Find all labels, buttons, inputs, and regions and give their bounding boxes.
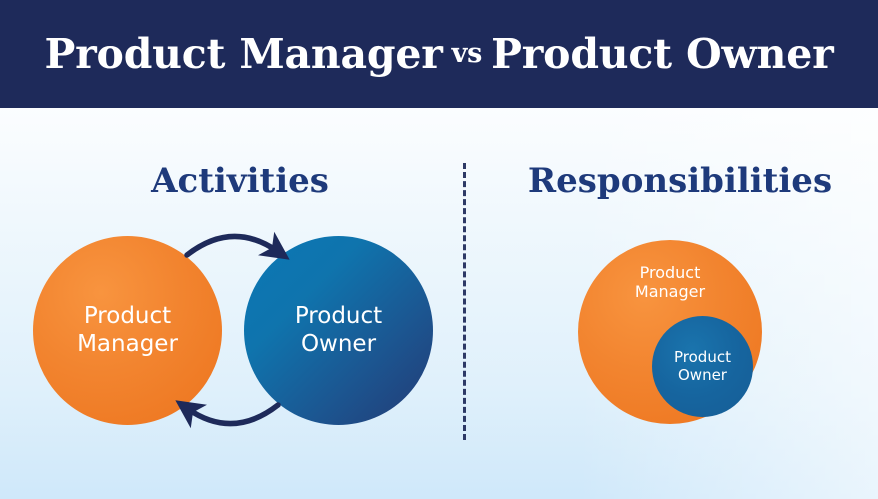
responsibilities-pm-label-line2: Manager [635,282,705,301]
page-title: Product ManagervsProduct Owner [0,0,878,108]
responsibilities-circle-product-owner[interactable]: Product Owner [652,316,753,417]
section-title-activities: Activities [40,161,440,201]
infographic-root: Product ManagervsProduct Owner Activitie… [0,0,878,499]
section-title-responsibilities: Responsibilities [490,161,870,201]
responsibilities-pm-label: Product Manager [635,264,705,302]
responsibilities-po-label: Product Owner [674,349,731,384]
page-title-left: Product Manager [45,30,443,78]
activities-circle-product-manager[interactable]: Product Manager [33,236,222,425]
responsibilities-po-label-line2: Owner [678,366,727,384]
activities-po-label: Product Owner [295,303,382,357]
activities-pm-label-line2: Manager [77,331,178,357]
responsibilities-pm-label-line1: Product [640,263,701,282]
activities-circle-product-owner[interactable]: Product Owner [244,236,433,425]
page-title-vs: vs [443,38,492,69]
activities-po-label-line2: Owner [301,331,376,357]
activities-pm-label-line1: Product [84,303,171,329]
responsibilities-po-label-line1: Product [674,348,731,366]
activities-pm-label: Product Manager [77,303,178,357]
activities-po-label-line1: Product [295,303,382,329]
page-title-right: Product Owner [491,30,833,78]
section-divider [463,163,466,440]
